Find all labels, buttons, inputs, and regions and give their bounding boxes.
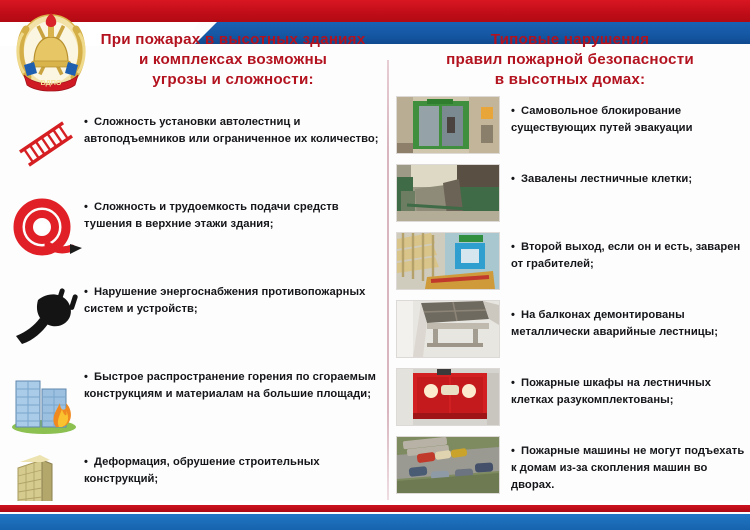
list-item: •Пожарные шкафы на лестничных клетках ра…: [396, 368, 748, 426]
list-item: •Сложность и трудоемкость подачи средств…: [8, 193, 380, 265]
burning-highrise-icon: [8, 363, 84, 435]
right-title-line-2: правил пожарной безопасности: [400, 50, 740, 70]
fire-ladder-icon: [8, 108, 84, 180]
vdpo-emblem-icon: ВДПО: [12, 7, 90, 93]
list-item-label: •Быстрое распространение горения по сгор…: [84, 363, 380, 403]
violations-list: •Самовольное блокирование существующих п…: [396, 96, 748, 504]
list-item-text: Второй выход, если он и есть, заварен от…: [511, 241, 740, 270]
list-item-label: •Пожарные машины не могут подъехать к до…: [500, 436, 748, 494]
list-item: •Нарушение энергоснабжения противопожарн…: [8, 278, 380, 350]
right-column-title: Типовые нарушения правил пожарной безопа…: [400, 30, 740, 89]
bottom-red-band: [0, 505, 750, 512]
threats-list: •Сложность установки автолестниц и автоп…: [8, 108, 380, 530]
list-item-label: •Второй выход, если он и есть, заварен о…: [500, 232, 748, 273]
list-item-label: •На балконах демонтированы металлически …: [500, 300, 748, 341]
list-item-text: На балконах демонтированы металлически а…: [511, 309, 718, 338]
list-item: •Второй выход, если он и есть, заварен о…: [396, 232, 748, 290]
balcony-ceiling-photo: [396, 300, 500, 358]
list-item-label: •Сложность и трудоемкость подачи средств…: [84, 193, 380, 233]
list-item-label: •Нарушение энергоснабжения противопожарн…: [84, 278, 380, 318]
list-item-label: •Пожарные шкафы на лестничных клетках ра…: [500, 368, 748, 409]
list-item-text: Пожарные машины не могут подъехать к дом…: [511, 445, 744, 491]
electric-plug-icon: [8, 278, 84, 350]
list-item-label: •Самовольное блокирование существующих п…: [500, 96, 748, 137]
column-divider: [387, 60, 389, 500]
list-item: •Быстрое распространение горения по сгор…: [8, 363, 380, 435]
list-item: •Пожарные машины не могут подъехать к до…: [396, 436, 748, 494]
list-item-text: Пожарные шкафы на лестничных клетках раз…: [511, 377, 711, 406]
bottom-blue-band: [0, 514, 750, 530]
welded-second-exit-photo: [396, 232, 500, 290]
fire-hose-reel-icon: [8, 193, 84, 265]
right-title-line-1: Типовые нарушения: [400, 30, 740, 50]
list-item-text: Деформация, обрушение строительных конст…: [84, 456, 320, 485]
right-title-line-3: в высотных домах:: [400, 70, 740, 90]
left-title-line-3: угрозы и сложности:: [88, 70, 378, 90]
crowded-courtyard-photo: [396, 436, 500, 494]
list-item-label: •Сложность установки автолестниц и автоп…: [84, 108, 380, 148]
list-item-text: Сложность установки автолестниц и автопо…: [84, 116, 379, 145]
list-item-text: Сложность и трудоемкость подачи средств …: [84, 201, 339, 230]
list-item-text: Завалены лестничные клетки;: [521, 173, 692, 185]
list-item-text: Самовольное блокирование существующих пу…: [511, 105, 693, 134]
blocked-evacuation-door-photo: [396, 96, 500, 154]
list-item-text: Быстрое распространение горения по сгора…: [84, 371, 376, 400]
top-red-band: [0, 0, 750, 22]
list-item: •Сложность установки автолестниц и автоп…: [8, 108, 380, 180]
left-title-line-1: При пожарах в высотных зданиях: [88, 30, 378, 50]
poster-root: ВДПО При пожарах в высотных зданиях и ко…: [0, 0, 750, 530]
fire-cabinet-photo: [396, 368, 500, 426]
cluttered-stairwell-photo: [396, 164, 500, 222]
list-item: •Самовольное блокирование существующих п…: [396, 96, 748, 154]
list-item-text: Нарушение энергоснабжения противопожарны…: [84, 286, 365, 315]
list-item-label: •Завалены лестничные клетки;: [500, 164, 692, 188]
emblem-text: ВДПО: [41, 78, 62, 87]
list-item-label: •Деформация, обрушение строительных конс…: [84, 448, 380, 488]
left-title-line-2: и комплексах возможны: [88, 50, 378, 70]
list-item: •На балконах демонтированы металлически …: [396, 300, 748, 358]
left-column-title: При пожарах в высотных зданиях и комплек…: [88, 30, 378, 89]
list-item: •Завалены лестничные клетки;: [396, 164, 748, 222]
